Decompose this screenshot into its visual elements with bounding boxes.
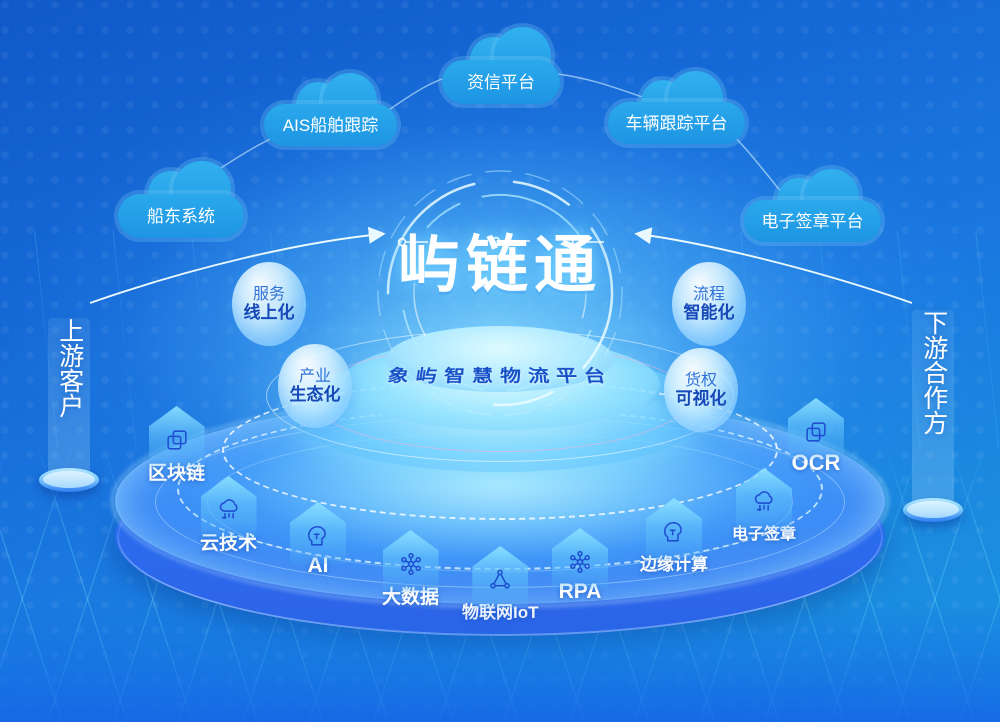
pillar-base (903, 498, 963, 522)
cloud-label: 车辆跟踪平台 (610, 115, 744, 132)
upstream-customers-label: 上游客户 (54, 318, 84, 418)
page-title: 屿链通 (398, 214, 602, 304)
bubble-process-intelligent[interactable]: 流程 智能化 (672, 262, 746, 346)
tech-shield (552, 528, 608, 590)
tech-item-blockchain[interactable]: 区块链 (148, 406, 205, 485)
bubble-line-1: 产业 (299, 368, 331, 386)
node-snowflake-icon (398, 551, 424, 577)
tech-shield (472, 546, 528, 608)
pillar-base-inner (907, 501, 959, 518)
pillar-base (39, 468, 99, 492)
ai-head-icon (661, 519, 687, 545)
cloud-label: 船东系统 (131, 208, 231, 225)
tech-item-ai[interactable]: AI (290, 502, 346, 578)
bubble-line-2: 可视化 (676, 389, 727, 408)
cloud-label: AIS船舶跟踪 (267, 117, 394, 134)
tech-item-ocr[interactable]: OCR (788, 398, 844, 476)
downstream-partners-pillar[interactable]: 下游合作方 (912, 310, 954, 540)
bubble-line-1: 货权 (685, 372, 717, 390)
bubble-cargo-visibility[interactable]: 货权 可视化 (664, 348, 738, 432)
infographic-canvas: 屿链通 象屿智慧物流平台 船东系统AIS船舶跟踪资信平台车辆跟踪平台电子签 (0, 0, 1000, 722)
downstream-partners-label: 下游合作方 (918, 310, 948, 435)
cloud-label: 电子签章平台 (746, 213, 880, 230)
bubble-service-online[interactable]: 服务 线上化 (232, 262, 306, 346)
cloud-rain-icon (751, 489, 777, 515)
upstream-customers-pillar[interactable]: 上游客户 (48, 318, 90, 514)
cloud-chip-e-signature-platform[interactable]: 电子签章平台 (744, 200, 881, 242)
overlap-squares-icon (803, 419, 829, 445)
pillar-base-inner (43, 471, 95, 488)
tech-item-edge-computing[interactable]: 边缘计算 (640, 498, 708, 575)
tech-shield (383, 530, 439, 592)
tech-shield (149, 406, 205, 468)
tech-item-big-data[interactable]: 大数据 (382, 530, 439, 609)
tech-shield (646, 498, 702, 560)
cloud-chip-credit-platform[interactable]: 资信平台 (442, 60, 560, 104)
tech-shield (736, 468, 792, 530)
cloud-chip-ais-vessel-tracking[interactable]: AIS船舶跟踪 (264, 104, 397, 146)
platform-subtitle: 象屿智慧物流平台 (385, 363, 615, 387)
bubble-line-2: 生态化 (290, 385, 341, 404)
cloud-chip-shipowner-system[interactable]: 船东系统 (118, 194, 244, 238)
bubble-line-2: 智能化 (684, 303, 735, 322)
bubble-line-1: 流程 (693, 286, 725, 304)
cloud-chip-vehicle-tracking[interactable]: 车辆跟踪平台 (608, 102, 745, 144)
triangle-network-icon (487, 567, 513, 593)
tech-item-rpa[interactable]: RPA (552, 528, 608, 604)
ai-head-icon (305, 523, 331, 549)
tech-shield (201, 476, 257, 538)
bubble-line-2: 线上化 (244, 303, 295, 322)
bottom-vignette (0, 602, 1000, 722)
bubble-line-1: 服务 (253, 286, 285, 304)
tech-item-cloud-tech[interactable]: 云技术 (200, 476, 257, 555)
cloud-rain-icon (216, 497, 242, 523)
tech-item-e-seal[interactable]: 电子签章 (732, 468, 796, 544)
bubble-industry-ecology[interactable]: 产业 生态化 (278, 344, 352, 428)
tech-shield (290, 502, 346, 564)
overlap-squares-icon (164, 427, 190, 453)
cloud-label: 资信平台 (451, 74, 551, 91)
node-snowflake-icon (567, 549, 593, 575)
tech-shield (788, 398, 844, 460)
